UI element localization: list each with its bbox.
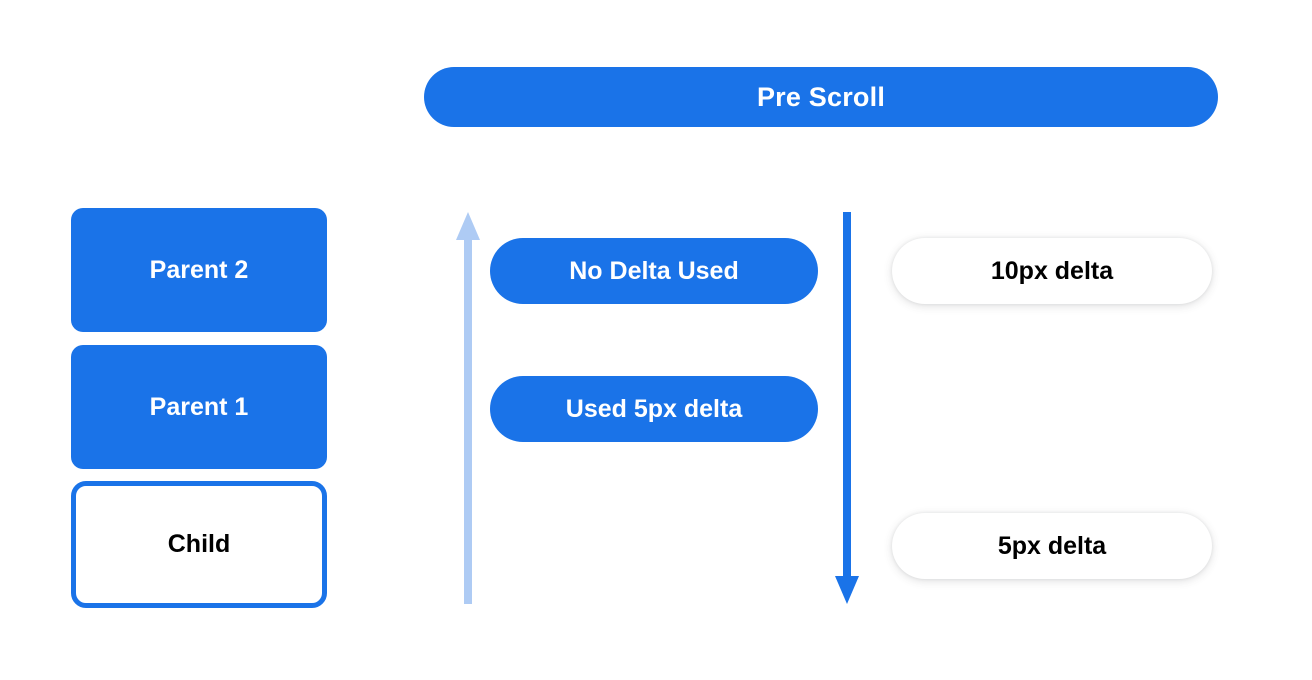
pre-scroll-header-label: Pre Scroll [757,82,885,113]
node-box-child: Child [71,481,327,608]
node-box-parent-2: Parent 2 [71,208,327,332]
node-box-parent-2-label: Parent 2 [150,256,249,285]
diagram-canvas: Pre Scroll Parent 2 Parent 1 Child No De… [0,0,1312,680]
delta-pill-5px-label: 5px delta [998,532,1106,561]
annotation-pill-used-5px-delta-label: Used 5px delta [566,395,742,424]
delta-pill-10px: 10px delta [892,238,1212,304]
annotation-pill-no-delta-used: No Delta Used [490,238,818,304]
delta-pill-10px-label: 10px delta [991,257,1113,286]
annotation-pill-no-delta-used-label: No Delta Used [569,257,738,286]
node-box-parent-1-label: Parent 1 [150,393,249,422]
scroll-up-arrow-icon [455,210,481,606]
scroll-down-arrow-icon [834,210,860,606]
annotation-pill-used-5px-delta: Used 5px delta [490,376,818,442]
node-box-parent-1: Parent 1 [71,345,327,469]
node-box-child-label: Child [168,530,231,559]
delta-pill-5px: 5px delta [892,513,1212,579]
pre-scroll-header: Pre Scroll [424,67,1218,127]
